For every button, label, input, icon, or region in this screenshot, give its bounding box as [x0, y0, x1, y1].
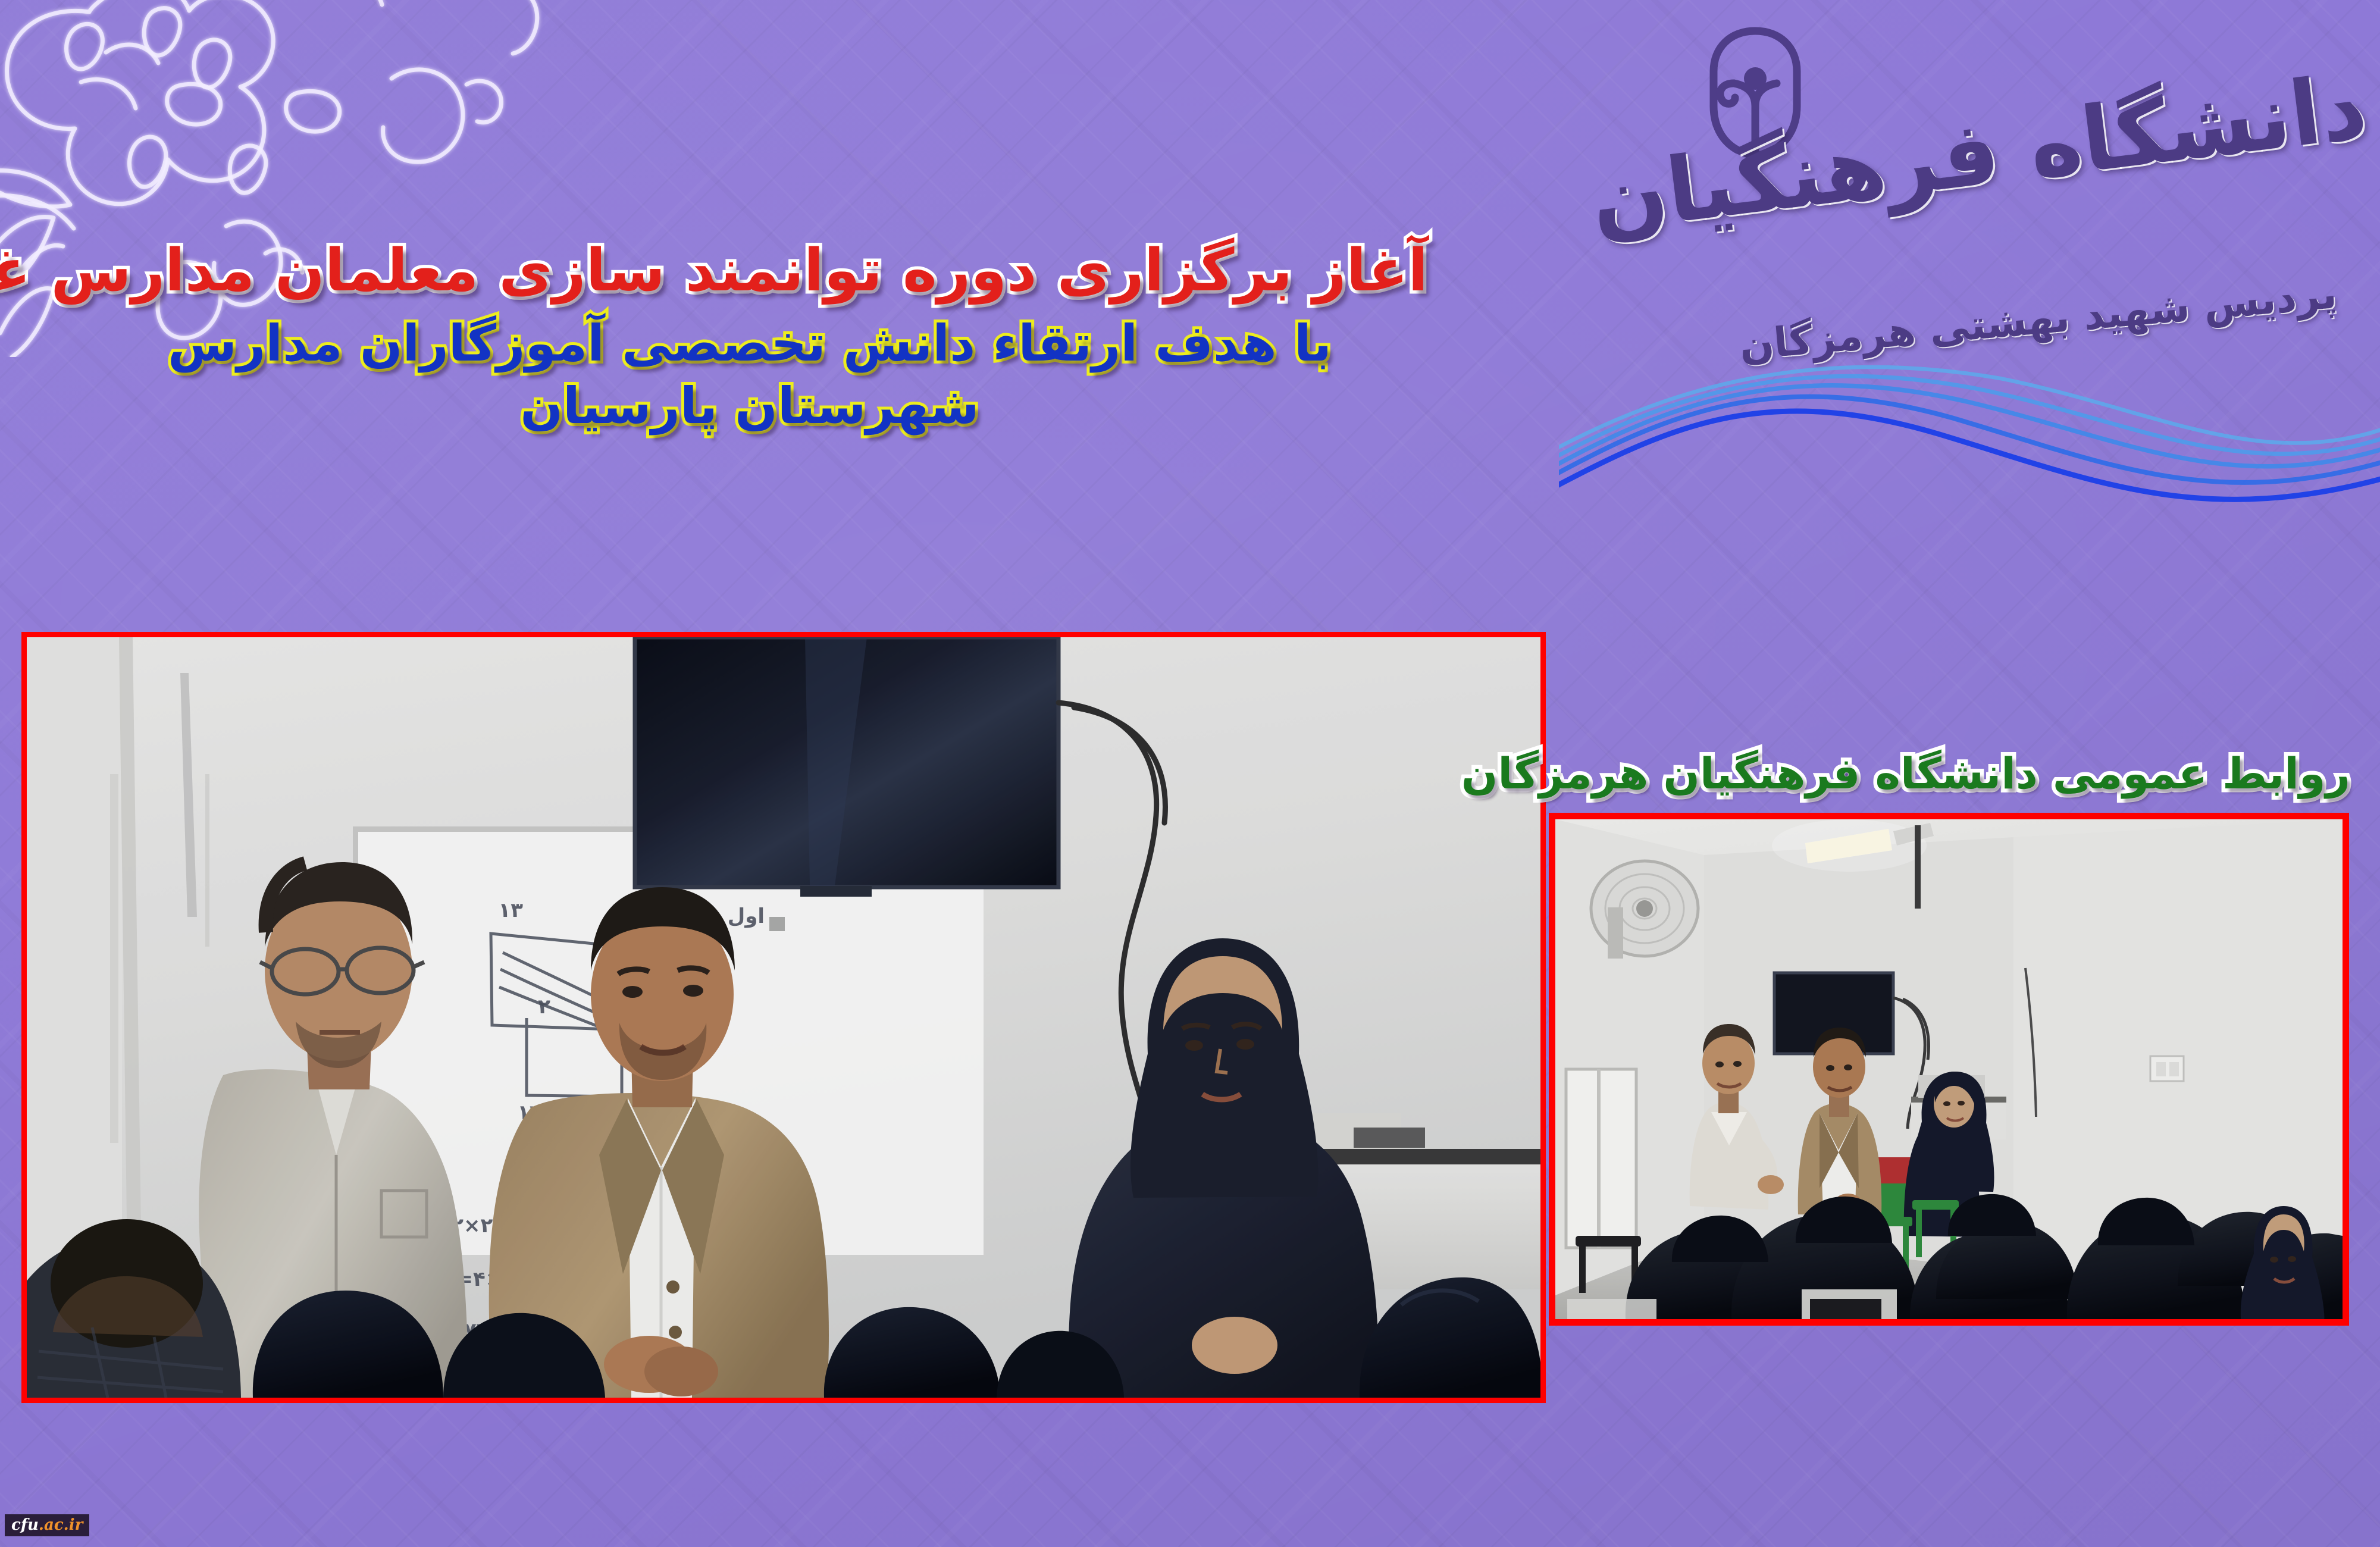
public-relations-banner: روابط عمومی دانشگاه فرهنگیان هرمزگان	[1559, 749, 2350, 798]
university-logo-title: دانشگاه فرهنگیان	[1657, 55, 2372, 245]
headline-line-2: با هدف ارتقاء دانش تخصصی آموزگاران مدارس	[71, 315, 1428, 372]
main-event-photo-image: ۱۳ ۴ ۲ ۱۳ اول ۲۷×۱۲=۷۲ ۳×۴=۱۸ ۷۲-۱۸=۵۴	[27, 637, 1540, 1398]
main-event-photo: ۱۳ ۴ ۲ ۱۳ اول ۲۷×۱۲=۷۲ ۳×۴=۱۸ ۷۲-۱۸=۵۴	[21, 632, 1546, 1403]
poster-canvas: دانشگاه فرهنگیان پردیس شهید بهشتی هرمزگا…	[0, 0, 2380, 1547]
headline-block: آغاز برگزاری دوره توانمند سازی معلمان مد…	[71, 238, 1428, 435]
site-watermark: cfu.ac.ir	[5, 1514, 89, 1536]
headline-line-1: آغاز برگزاری دوره توانمند سازی معلمان مد…	[71, 238, 1428, 305]
university-logo-subtitle: پردیس شهید بهشتی هرمزگان	[1737, 271, 2340, 370]
blue-wave-decoration	[1559, 357, 2380, 595]
university-book-arch-emblem-icon	[1696, 17, 1815, 165]
university-logo-block: دانشگاه فرهنگیان پردیس شهید بهشتی هرمزگا…	[1660, 6, 2368, 363]
watermark-tld: .ac.ir	[39, 1516, 83, 1534]
secondary-classroom-photo	[1549, 813, 2349, 1326]
watermark-name: cfu	[11, 1516, 39, 1534]
headline-line-3: شهرستان پارسیان	[71, 378, 1428, 435]
secondary-classroom-photo-image	[1555, 819, 2343, 1319]
